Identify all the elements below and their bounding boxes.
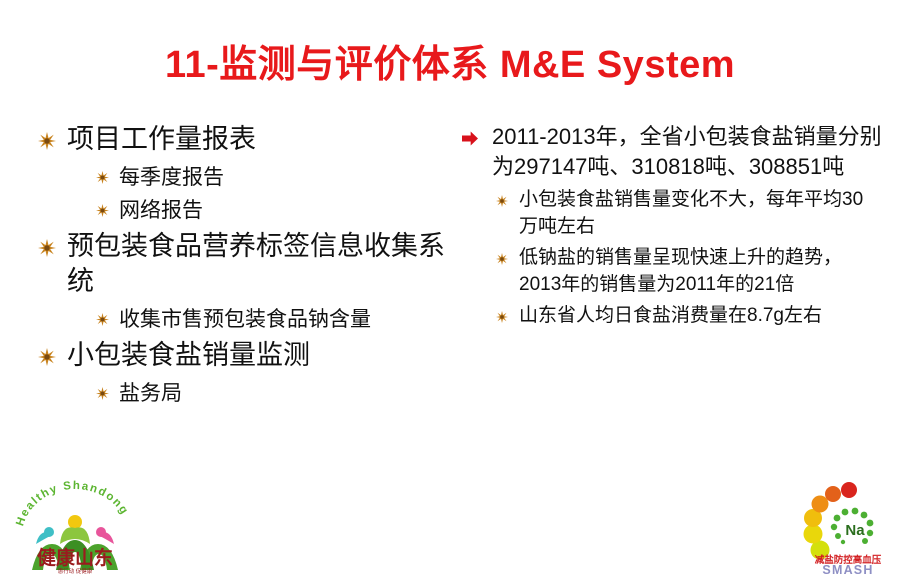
list-item: 网络报告: [38, 196, 450, 226]
list-item-label: 盐务局: [119, 379, 450, 409]
page-title: 11-监测与评价体系 M&E System: [0, 42, 900, 88]
star-bullet-icon: [38, 132, 56, 150]
star-bullet-icon: [496, 310, 508, 322]
smash-center-text: Na: [845, 522, 865, 539]
list-item: 预包装食品营养标签信息收集系统: [38, 229, 450, 299]
star-bullet-icon: [96, 171, 109, 184]
list-item-label: 2011-2013年，全省小包装食盐销量分别为297147吨、310818吨、3…: [492, 122, 882, 182]
list-item: 小包装食盐销量监测: [38, 338, 450, 373]
list-item-label: 小包装食盐销售量变化不大，每年平均30万吨左右: [519, 186, 882, 240]
star-bullet-icon: [496, 252, 508, 264]
list-item-label: 低钠盐的销售量呈现快速上升的趋势，2013年的销售量为2011年的21倍: [519, 244, 882, 298]
list-item: 小包装食盐销售量变化不大，每年平均30万吨左右: [462, 186, 882, 240]
star-bullet-icon: [96, 204, 109, 217]
red-arrow-bullet-icon: [462, 131, 478, 146]
list-item: 低钠盐的销售量呈现快速上升的趋势，2013年的销售量为2011年的21倍: [462, 244, 882, 298]
smash-logo: Na 减盐防控高血压 SMASH: [798, 476, 898, 576]
list-item-label: 每季度报告: [119, 163, 450, 193]
star-bullet-icon: [496, 194, 508, 206]
smash-latin-text: SMASH: [822, 563, 873, 576]
list-item: 盐务局: [38, 379, 450, 409]
list-item-label: 山东省人均日食盐消费量在8.7g左右: [519, 302, 882, 329]
healthy-shandong-sub-text: 惠行动 促健康: [58, 567, 93, 575]
star-bullet-icon: [38, 239, 56, 257]
list-item-label: 收集市售预包装食品钠含量: [119, 305, 450, 335]
list-item-label: 网络报告: [119, 196, 450, 226]
healthy-shandong-main-text: 健康山东: [37, 546, 113, 569]
list-item-label: 预包装食品营养标签信息收集系统: [67, 229, 450, 299]
list-item-label: 项目工作量报表: [67, 122, 450, 157]
list-item-label: 小包装食盐销量监测: [67, 338, 450, 373]
star-bullet-icon: [38, 348, 56, 366]
star-bullet-icon: [96, 313, 109, 326]
right-content-column: 2011-2013年，全省小包装食盐销量分别为297147吨、310818吨、3…: [462, 122, 882, 333]
star-bullet-icon: [96, 387, 109, 400]
list-item: 收集市售预包装食品钠含量: [38, 305, 450, 335]
list-item: 山东省人均日食盐消费量在8.7g左右: [462, 302, 882, 329]
left-content-column: 项目工作量报表 每季度报告 网络报告 预包装食品营养标签信息收集系统: [38, 122, 450, 412]
list-item: 2011-2013年，全省小包装食盐销量分别为297147吨、310818吨、3…: [462, 122, 882, 182]
list-item: 项目工作量报表: [38, 122, 450, 157]
healthy-shandong-logo: Healthy Shandong 健康山东 惠行动 促健康: [12, 474, 138, 576]
list-item: 每季度报告: [38, 163, 450, 193]
